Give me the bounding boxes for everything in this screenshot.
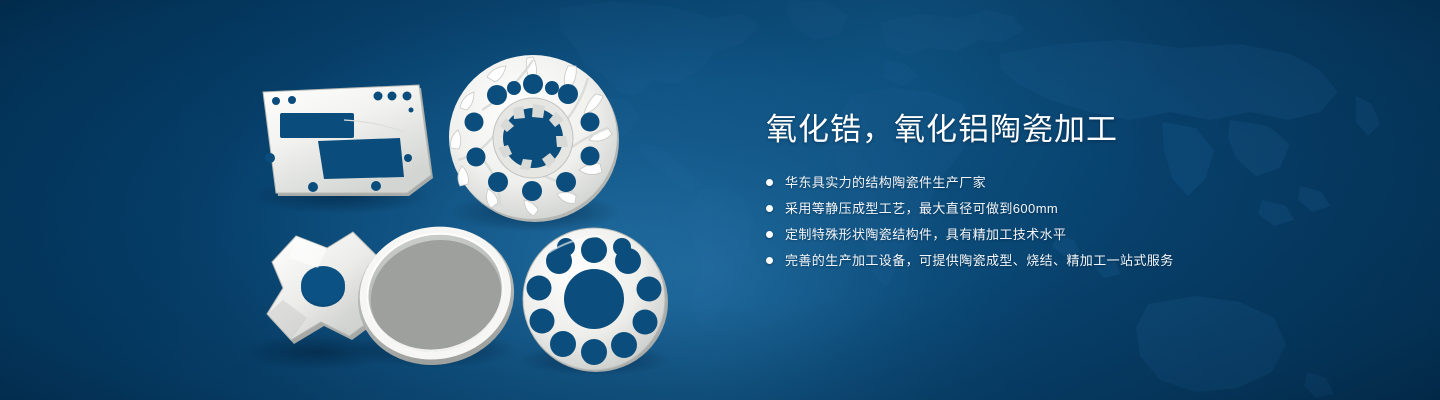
ceramic-machined-plate [263,85,433,196]
ceramic-perforated-disc [523,228,668,372]
bullet-dot-icon [766,231,773,238]
feature-item-label: 定制特殊形状陶瓷结构件，具有精加工技术水平 [785,224,1066,245]
feature-item: 定制特殊形状陶瓷结构件，具有精加工技术水平 [766,224,1386,245]
banner-copy-block: 氧化锆，氧化铝陶瓷加工 华东具实力的结构陶瓷件生产厂家 采用等静压成型工艺，最大… [766,112,1386,276]
feature-item-label: 完善的生产加工设备，可提供陶瓷成型、烧结、精加工一站式服务 [785,250,1174,271]
feature-item: 华东具实力的结构陶瓷件生产厂家 [766,172,1386,193]
bullet-dot-icon [766,257,773,264]
ceramic-impeller-rotor [449,55,619,222]
ceramic-products-group [0,0,740,400]
feature-item: 完善的生产加工设备，可提供陶瓷成型、烧结、精加工一站式服务 [766,250,1386,271]
banner-feature-list: 华东具实力的结构陶瓷件生产厂家 采用等静压成型工艺，最大直径可做到600mm 定… [766,172,1386,271]
hero-banner: 氧化锆，氧化铝陶瓷加工 华东具实力的结构陶瓷件生产厂家 采用等静压成型工艺，最大… [0,0,1440,400]
feature-item: 采用等静压成型工艺，最大直径可做到600mm [766,198,1386,219]
bullet-dot-icon [766,205,773,212]
feature-item-label: 华东具实力的结构陶瓷件生产厂家 [785,172,986,193]
feature-item-label: 采用等静压成型工艺，最大直径可做到600mm [785,198,1058,219]
bullet-dot-icon [766,179,773,186]
banner-headline: 氧化锆，氧化铝陶瓷加工 [766,112,1386,148]
